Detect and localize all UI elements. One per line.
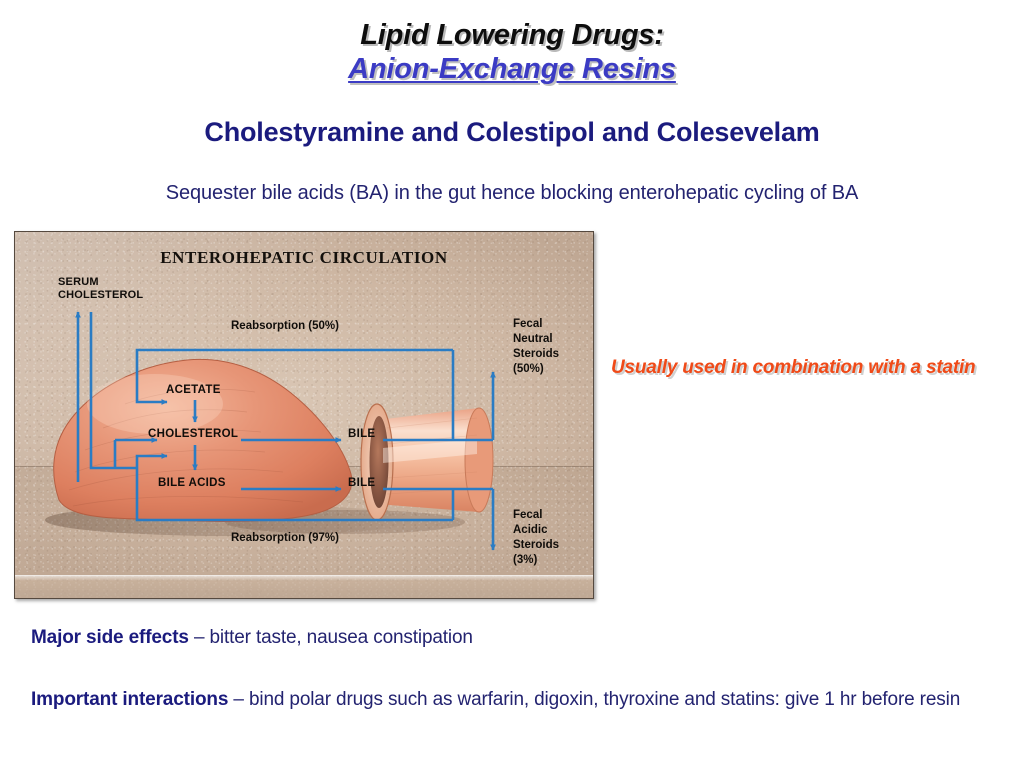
label-bile-upper: BILE xyxy=(348,428,375,441)
slide-title-block: Lipid Lowering Drugs: Anion-Exchange Res… xyxy=(0,18,1024,86)
label-serum-cholesterol: SERUM CHOLESTEROL xyxy=(58,276,143,302)
label-fecal-neutral-steroids: Fecal Neutral Steroids (50%) xyxy=(513,317,559,377)
label-bile-acids: BILE ACIDS xyxy=(158,477,226,490)
label-cholesterol: CHOLESTEROL xyxy=(148,428,238,441)
label-acetate: ACETATE xyxy=(166,384,221,397)
label-reabsorption-lower: Reabsorption (97%) xyxy=(231,532,339,545)
mechanism-description: Sequester bile acids (BA) in the gut hen… xyxy=(0,182,1024,205)
side-effects-label: Major side effects xyxy=(31,627,189,648)
diagram-bottom-band xyxy=(15,575,593,598)
interactions-text: – bind polar drugs such as warfarin, dig… xyxy=(228,689,960,710)
slide-title-secondary: Anion-Exchange Resins xyxy=(0,52,1024,86)
slide-title-primary: Lipid Lowering Drugs: xyxy=(0,18,1024,52)
drug-names-heading: Cholestyramine and Colestipol and Colese… xyxy=(0,117,1024,148)
statin-combination-note: Usually used in combination with a stati… xyxy=(611,356,983,379)
interactions-label: Important interactions xyxy=(31,689,228,710)
label-fecal-acidic-steroids: Fecal Acidic Steroids (3%) xyxy=(513,508,559,568)
side-effects-paragraph: Major side effects – bitter taste, nause… xyxy=(31,624,981,651)
label-bile-lower: BILE xyxy=(348,477,375,490)
interactions-paragraph: Important interactions – bind polar drug… xyxy=(31,686,983,713)
enterohepatic-circulation-diagram: ENTEROHEPATIC CIRCULATION xyxy=(14,231,594,599)
label-reabsorption-upper: Reabsorption (50%) xyxy=(231,320,339,333)
side-effects-text: – bitter taste, nausea constipation xyxy=(189,627,473,648)
